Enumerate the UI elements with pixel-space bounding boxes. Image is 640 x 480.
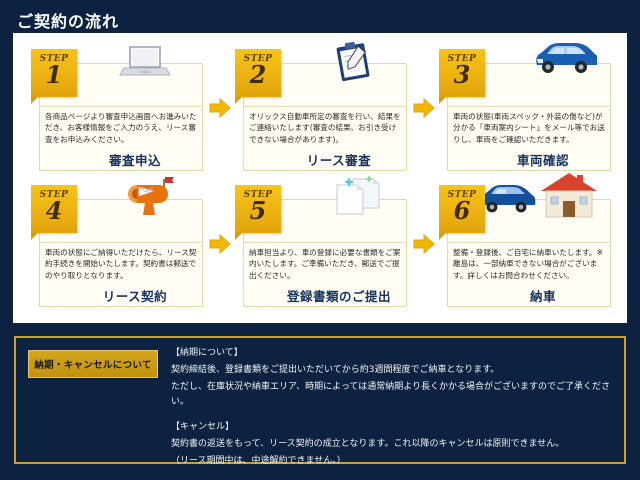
blue-car-icon — [531, 39, 597, 79]
cancel-heading: 【キャンセル】 — [171, 420, 614, 435]
step-badge-5: STEP 5 — [235, 185, 281, 233]
step-badge-4: STEP 4 — [31, 185, 77, 233]
delivery-cancel-note-box: 納期・キャンセルについて 【納期について】 契約締結後、登録書類をご提出いただい… — [14, 336, 626, 464]
step-badge-number: 3 — [439, 63, 485, 87]
step-card-5[interactable]: STEP 5 登録書類のご提出 納車担当より、車の登録に必要な書類をご案内いたし… — [235, 181, 407, 309]
step-body: オリックス自動車所定の審査を行い、結果をご連絡いたします(審査の結果、お引き受け… — [249, 111, 401, 167]
arrow-right-icon — [209, 97, 231, 119]
flow-panel: STEP 1 審査申込 各商品ページより審査申込画面へお進みいただき、お客様情報… — [13, 33, 627, 323]
step-body: 車両の状態にご納得いただけたら、リース契約手続きを開始いたします。契約書は郵送で… — [45, 247, 197, 303]
delivery-line-2: ただし、在庫状況や納車エリア、時期によっては通常納期より長くかかる場合がございま… — [171, 380, 614, 410]
step-badge-2: STEP 2 — [235, 49, 281, 97]
clipboard-pen-icon — [331, 41, 377, 87]
step-card-6[interactable]: STEP 6 納車 整備・登録後、ご自宅に納車いたします。※離島は、一部納車でき… — [439, 181, 611, 309]
step-card-3[interactable]: STEP 3 車両確認 車両の状態(車両スペック・外装の傷など)が分かる「車両案… — [439, 45, 611, 173]
step-badge-3: STEP 3 — [439, 49, 485, 97]
step-body: 車両の状態(車両スペック・外装の傷など)が分かる「車両案内シート」をメール等でお… — [453, 111, 605, 167]
step-body: 整備・登録後、ご自宅に納車いたします。※離島は、一部納車できない場合がございます… — [453, 247, 605, 303]
delivery-line-1: 契約締結後、登録書類をご提出いただいてから約3週間程度でご納車となります。 — [171, 363, 614, 378]
note-spacer — [171, 411, 614, 420]
car-house-icon — [477, 173, 605, 223]
flow-row-top: STEP 1 審査申込 各商品ページより審査申込画面へお進みいただき、お客様情報… — [13, 45, 627, 177]
flow-row-bottom: STEP 4 リース契約 車両の状態にご納得いただけたら、リース契約手続きを開始… — [13, 181, 627, 313]
page-title: ご契約の流れ — [17, 8, 119, 32]
step-badge-1: STEP 1 — [31, 49, 77, 97]
arrow-right-icon — [209, 233, 231, 255]
step-badge-number: 5 — [235, 199, 281, 223]
step-card-1[interactable]: STEP 1 審査申込 各商品ページより審査申込画面へお進みいただき、お客様情報… — [31, 45, 203, 173]
arrow-right-icon — [413, 97, 435, 119]
cancel-line-2: （リース期間中は、中途解約できません。） — [171, 454, 614, 469]
step-body: 各商品ページより審査申込画面へお進みいただき、お客様情報をご入力のうえ、リース審… — [45, 111, 197, 167]
documents-icon — [331, 173, 383, 219]
step-badge-number: 6 — [439, 199, 485, 223]
step-card-4[interactable]: STEP 4 リース契約 車両の状態にご納得いただけたら、リース契約手続きを開始… — [31, 181, 203, 309]
step-card-2[interactable]: STEP 2 リース審査 オリックス自動車所定の審査を行い、結果をご連絡いたしま… — [235, 45, 407, 173]
note-label: 納期・キャンセルについて — [28, 350, 158, 378]
laptop-icon — [119, 45, 171, 83]
step-badge-6: STEP 6 — [439, 185, 485, 233]
step-badge-number: 4 — [31, 199, 77, 223]
delivery-heading: 【納期について】 — [171, 346, 614, 361]
step-badge-number: 2 — [235, 63, 281, 87]
cancel-line-1: 契約書の返送をもって、リース契約の成立となります。これ以降のキャンセルは原則でき… — [171, 437, 614, 452]
arrow-right-icon — [413, 233, 435, 255]
contract-flow-page: ご契約の流れ STEP 1 — [0, 0, 640, 480]
step-body: 納車担当より、車の登録に必要な書類をご案内いたします。ご準備いただき、郵送でご提… — [249, 247, 401, 303]
note-text: 【納期について】 契約締結後、登録書類をご提出いただいてから約3週間程度でご納車… — [171, 346, 614, 471]
mailbox-icon — [123, 173, 179, 221]
step-badge-number: 1 — [31, 63, 77, 87]
